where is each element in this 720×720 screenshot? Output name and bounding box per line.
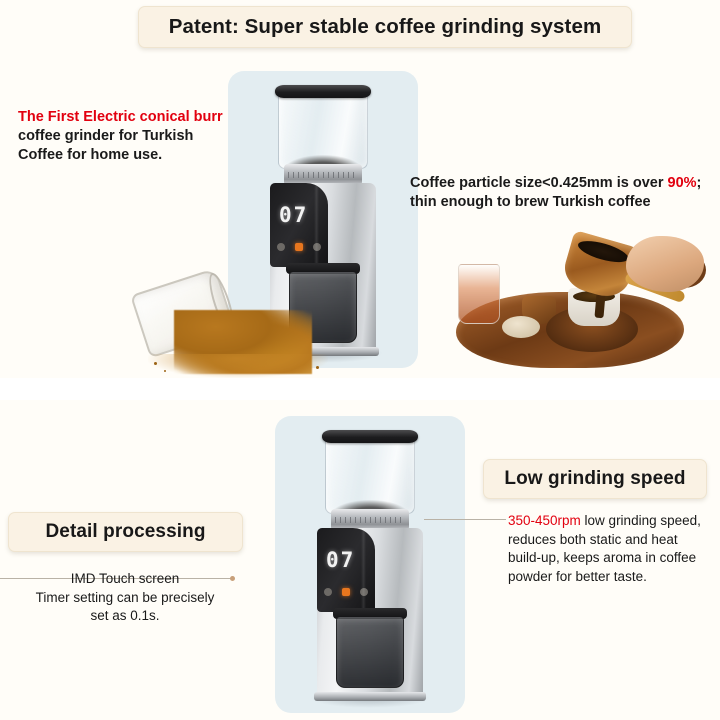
control-icon-row[interactable] [324, 588, 368, 596]
timer-display: 07 [279, 203, 308, 227]
connector-line-speed [424, 519, 506, 520]
timer-icon[interactable] [313, 243, 321, 251]
grinder-bean-hopper [278, 92, 368, 169]
grinding-speed-text: 350-450rpm low grinding speed, reduces b… [508, 512, 714, 586]
particle-size-prefix: Coffee particle size<0.425mm is over [410, 175, 668, 191]
title-banner: Patent: Super stable coffee grinding sys… [138, 6, 632, 48]
coffee-grain [164, 370, 166, 372]
grinding-speed-line1: low grinding speed, [581, 513, 701, 528]
power-icon[interactable] [324, 588, 332, 596]
pouring-hand [626, 236, 704, 292]
ground-coffee-photo [120, 258, 335, 380]
turkish-coffee-photo [450, 230, 718, 380]
touch-control-panel[interactable]: 07 [317, 528, 375, 612]
first-electric-highlight: The First Electric conical burr [18, 109, 223, 125]
detail-text-line1: IMD Touch screen [71, 571, 180, 586]
particle-size-line2: thin enough to brew Turkish coffee [410, 194, 651, 210]
detail-processing-text: IMD Touch screen Timer setting can be pr… [12, 570, 238, 626]
low-grinding-speed-label: Low grinding speed [504, 468, 685, 490]
particle-size-highlight: 90% [668, 175, 697, 191]
detail-text-line3: set as 0.1s. [90, 608, 159, 623]
grinding-speed-line4: powder for better taste. [508, 569, 647, 584]
particle-size-text: Coffee particle size<0.425mm is over 90%… [410, 174, 720, 212]
coffee-grinder-illustration-bottom: 07 [275, 416, 465, 716]
grinder-hopper-lid [322, 430, 418, 443]
timer-icon[interactable] [360, 588, 368, 596]
grinder-base [314, 692, 426, 701]
grinding-speed-line2: reduces both static and heat [508, 532, 678, 547]
lock-icon[interactable] [295, 243, 303, 251]
first-electric-line2: coffee grinder for Turkish [18, 128, 193, 144]
timer-display: 07 [326, 548, 355, 572]
grinding-speed-line3: build-up, keeps aroma in coffee [508, 550, 696, 565]
turkish-delight [502, 316, 540, 338]
grinder-hopper-lid [275, 85, 371, 98]
particle-size-suffix: ; [697, 175, 702, 191]
coffee-grain [154, 362, 157, 365]
coffee-powder-spill [148, 354, 328, 378]
coffee-grain [316, 366, 319, 369]
first-electric-line3: Coffee for home use. [18, 147, 162, 163]
low-grinding-speed-banner: Low grinding speed [483, 459, 707, 499]
power-icon[interactable] [277, 243, 285, 251]
detail-text-line2: Timer setting can be precisely [36, 590, 215, 605]
grinder-bean-hopper [325, 437, 415, 514]
control-icon-row[interactable] [277, 243, 321, 251]
detail-processing-banner: Detail processing [8, 512, 243, 552]
lock-icon[interactable] [342, 588, 350, 596]
grounds-catch-bin [336, 616, 404, 688]
touch-control-panel[interactable]: 07 [270, 183, 328, 267]
title-banner-label: Patent: Super stable coffee grinding sys… [169, 15, 602, 39]
detail-processing-label: Detail processing [45, 521, 205, 543]
product-infographic: Patent: Super stable coffee grinding sys… [0, 0, 720, 720]
grinding-speed-highlight: 350-450rpm [508, 513, 581, 528]
water-glass [458, 264, 500, 324]
first-electric-text: The First Electric conical burr coffee g… [18, 108, 240, 165]
section-divider [0, 378, 720, 400]
